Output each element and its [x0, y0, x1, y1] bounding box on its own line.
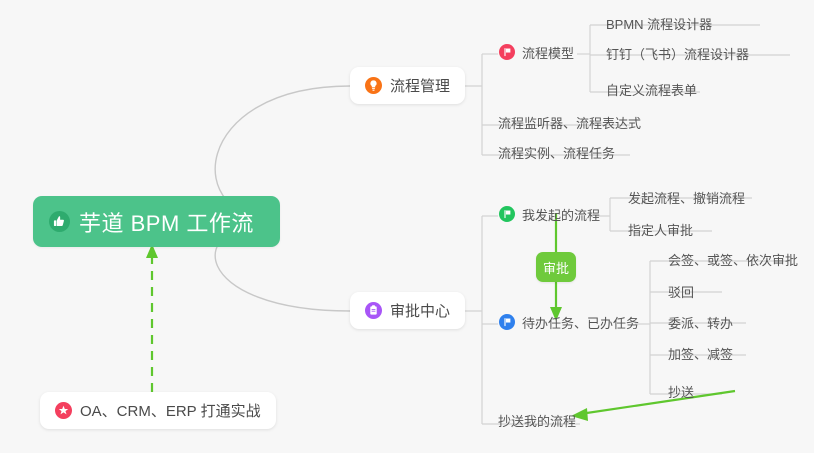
- node-label: 加签、减签: [668, 344, 733, 363]
- star-icon: [55, 402, 72, 419]
- node-label: 会签、或签、依次审批: [668, 250, 798, 269]
- node-delegate-transfer[interactable]: 委派、转办: [660, 308, 741, 336]
- node-reject[interactable]: 驳回: [660, 277, 702, 305]
- node-label: 流程实例、流程任务: [498, 143, 615, 162]
- approval-badge-label: 审批: [543, 258, 569, 277]
- node-chaosong-wode-liucheng[interactable]: 抄送我的流程: [490, 406, 584, 434]
- root-label: 芋道 BPM 工作流: [79, 206, 254, 238]
- node-copy-to[interactable]: 抄送: [660, 377, 702, 405]
- clipboard-icon: [365, 302, 382, 319]
- node-process-listener-expression[interactable]: 流程监听器、流程表达式: [490, 108, 649, 136]
- root-node[interactable]: 芋道 BPM 工作流: [33, 196, 280, 247]
- node-label: 委派、转办: [668, 313, 733, 332]
- node-label: 自定义流程表单: [606, 80, 697, 99]
- node-label: 流程监听器、流程表达式: [498, 113, 641, 132]
- lightbulb-icon: [365, 77, 382, 94]
- branch-label: 流程管理: [390, 75, 450, 96]
- node-label: 钉钉（飞书）流程设计器: [606, 44, 749, 63]
- bottom-highlight-card[interactable]: OA、CRM、ERP 打通实战: [40, 392, 276, 429]
- node-designated-approver[interactable]: 指定人审批: [620, 215, 701, 243]
- node-todo-done-tasks[interactable]: 待办任务、已办任务: [490, 308, 647, 336]
- node-label: 抄送: [668, 382, 694, 401]
- arrow-copyto-to-chaosongwodeliucheng: [580, 391, 735, 414]
- node-label: 驳回: [668, 282, 694, 301]
- node-label: 流程模型: [522, 43, 574, 62]
- node-wo-faqi-de-liucheng[interactable]: 我发起的流程: [490, 200, 608, 228]
- node-label: 我发起的流程: [522, 205, 600, 224]
- node-process-instance-task[interactable]: 流程实例、流程任务: [490, 138, 623, 166]
- flag-icon: [498, 206, 515, 223]
- node-countersign-orsign-sequential[interactable]: 会签、或签、依次审批: [660, 245, 806, 273]
- node-label: 指定人审批: [628, 220, 693, 239]
- node-liucheng-moxing[interactable]: 流程模型: [490, 38, 582, 66]
- node-label: 发起流程、撤销流程: [628, 188, 745, 207]
- node-label: 待办任务、已办任务: [522, 313, 639, 332]
- node-bpmn-designer[interactable]: BPMN 流程设计器: [598, 9, 720, 37]
- node-custom-process-form[interactable]: 自定义流程表单: [598, 75, 705, 103]
- thumbs-up-icon: [49, 211, 70, 232]
- flag-icon: [498, 44, 515, 61]
- node-add-remove-sign[interactable]: 加签、减签: [660, 339, 741, 367]
- branch-label: 审批中心: [390, 300, 450, 321]
- bottom-highlight-label: OA、CRM、ERP 打通实战: [80, 400, 261, 421]
- node-dingtalk-feishu-designer[interactable]: 钉钉（飞书）流程设计器: [598, 39, 757, 67]
- flag-icon: [498, 314, 515, 331]
- approval-badge[interactable]: 审批: [536, 252, 576, 282]
- mindmap-canvas: 芋道 BPM 工作流 流程管理 流程模型 BPMN 流程设计器 钉钉（飞书）流程…: [0, 0, 814, 453]
- branch-liucheng-guanli[interactable]: 流程管理: [350, 67, 465, 104]
- branch-shenpi-zhongxin[interactable]: 审批中心: [350, 292, 465, 329]
- node-start-cancel-process[interactable]: 发起流程、撤销流程: [620, 183, 753, 211]
- node-label: 抄送我的流程: [498, 411, 576, 430]
- node-label: BPMN 流程设计器: [606, 14, 712, 33]
